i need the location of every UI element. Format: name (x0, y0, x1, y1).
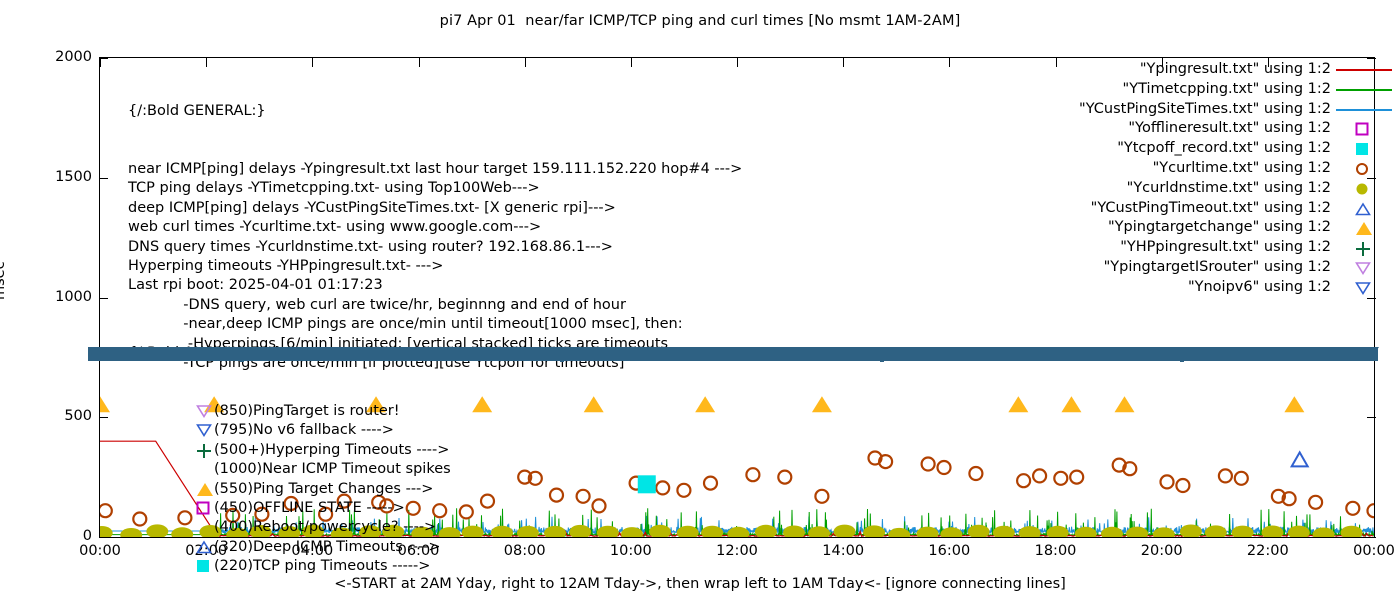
legend-entry: "YHPpingresult.txt" using 1:2 (1001, 238, 1331, 258)
triangle-down-open-icon (196, 423, 212, 438)
legend-key (1334, 159, 1392, 179)
y-tick-label: 1000 (20, 289, 92, 305)
x-tick-label: 00:00 (79, 543, 121, 559)
anomaly-row: (220)TCP ping Timeouts -----> (128, 557, 283, 576)
legend-key (1334, 278, 1392, 298)
legend-label: "Ypingresult.txt" using 1:2 (1140, 60, 1331, 80)
anomaly-row: (850)PingTarget is router! (128, 402, 283, 421)
legend-line-icon (1336, 64, 1392, 76)
anomaly-row: (550)Ping Target Changes ---> (128, 480, 283, 499)
triangle-up-filled-icon (1355, 221, 1373, 236)
legend-label: "YTimetcpping.txt" using 1:2 (1123, 80, 1331, 100)
triangle-up-open-icon (1355, 202, 1371, 216)
anomaly-label: (320)Deep ICMP Timeouts ----> (214, 538, 441, 557)
triangle-up-filled-icon (196, 482, 212, 497)
annotation-line: DNS query times -Ycurldnstime.txt- using… (128, 238, 742, 257)
anomaly-label: (550)Ping Target Changes ---> (214, 480, 433, 499)
anomaly-row: (400)Reboot/powercycle? ----> (128, 518, 283, 537)
legend-key (1334, 199, 1392, 219)
anomaly-row: (320)Deep ICMP Timeouts ----> (128, 538, 283, 557)
y-tick-label: 2000 (20, 49, 92, 65)
triangle-up-open-icon (196, 540, 212, 555)
anomaly-label: (795)No v6 fallback ----> (214, 421, 394, 440)
overlay-band-dot (240, 360, 244, 362)
y-tick-label: 0 (20, 528, 92, 544)
legend-label: "Ytcpoff_record.txt" using 1:2 (1117, 139, 1331, 159)
anomaly-row: (1000)Near ICMP Timeout spikes (128, 460, 283, 479)
triangle-down-open-icon (1355, 281, 1371, 295)
x-tick-label: 00:00 (1353, 543, 1395, 559)
annotation-line: web curl times -Ycurltime.txt- using www… (128, 218, 742, 237)
x-axis-caption: <-START at 2AM Yday, right to 12AM Tday-… (0, 576, 1400, 592)
overlay-band-dot (1180, 360, 1184, 362)
legend-entry: "Ytcpoff_record.txt" using 1:2 (1001, 139, 1331, 159)
square-filled-icon (196, 559, 212, 574)
legend-entry: "YCustPingSiteTimes.txt" using 1:2 (1001, 100, 1331, 120)
x-tick-mark (1374, 529, 1375, 538)
anomaly-label: (500+)Hyperping Timeouts ----> (214, 441, 449, 460)
anomaly-row: (450)OFFLINE STATE -----> (128, 499, 283, 518)
circle-filled-icon (1355, 182, 1369, 196)
legend-entry: "Ynoipv6" using 1:2 (1001, 278, 1331, 298)
x-tick-label: 18:00 (1035, 543, 1077, 559)
legend-label: "Ypingtargetchange" using 1:2 (1108, 218, 1331, 238)
triangle-down-open-icon (1355, 261, 1371, 275)
legend-key (1334, 179, 1392, 199)
anomaly-label: (1000)Near ICMP Timeout spikes (214, 460, 451, 479)
square-filled-icon (1355, 142, 1369, 156)
x-tick-label: 20:00 (1141, 543, 1183, 559)
annotation-anomaly-rows: (850)PingTarget is router!(795)No v6 fal… (128, 402, 283, 577)
legend-key (1334, 60, 1392, 80)
legend-key (1334, 238, 1392, 258)
legend-key (1334, 80, 1392, 100)
legend-key (1334, 100, 1392, 120)
circle-open-icon (1355, 162, 1369, 176)
legend: "Ypingresult.txt" using 1:2"YTimetcpping… (1001, 60, 1331, 298)
anomaly-row: (795)No v6 fallback ----> (128, 421, 283, 440)
y-tick-label: 1500 (20, 169, 92, 185)
overlay-band (88, 347, 1378, 361)
annotation-line: deep ICMP[ping] delays -YCustPingSiteTim… (128, 199, 742, 218)
legend-line-icon (1336, 104, 1392, 116)
legend-entry: "Ycurldnstime.txt" using 1:2 (1001, 179, 1331, 199)
annotation-line: TCP ping delays -YTimetcpping.txt- using… (128, 179, 742, 198)
triangle-down-open-icon (196, 404, 212, 419)
legend-key (1334, 258, 1392, 278)
legend-label: "YHPpingresult.txt" using 1:2 (1120, 238, 1331, 258)
y-tick-label: 500 (20, 408, 92, 424)
square-open-icon (1355, 122, 1369, 136)
legend-label: "YpingtargetISrouter" using 1:2 (1104, 258, 1331, 278)
legend-label: "YCustPingSiteTimes.txt" using 1:2 (1079, 100, 1331, 120)
legend-label: "Ycurltime.txt" using 1:2 (1153, 159, 1331, 179)
legend-entry: "YpingtargetISrouter" using 1:2 (1001, 258, 1331, 278)
plus-icon (1355, 241, 1371, 257)
anomaly-label: (850)PingTarget is router! (214, 402, 400, 421)
legend-label: "Ynoipv6" using 1:2 (1188, 278, 1331, 298)
x-tick-label: 16:00 (928, 543, 970, 559)
plus-icon (196, 443, 212, 458)
legend-entry: "Ycurltime.txt" using 1:2 (1001, 159, 1331, 179)
anomaly-label: (220)TCP ping Timeouts -----> (214, 557, 430, 576)
x-tick-label: 14:00 (822, 543, 864, 559)
legend-key (1334, 119, 1392, 139)
annotation-line: near ICMP[ping] delays -Ypingresult.txt … (128, 160, 742, 179)
annotation-general-heading: {/:Bold GENERAL:} (128, 102, 742, 121)
x-tick-label: 08:00 (504, 543, 546, 559)
anomaly-label: (450)OFFLINE STATE -----> (214, 499, 405, 518)
legend-line-icon (1336, 84, 1392, 96)
legend-label: "Ycurldnstime.txt" using 1:2 (1127, 179, 1331, 199)
annotation-line: Last rpi boot: 2025-04-01 01:17:23 (128, 276, 742, 295)
legend-entry: "Yofflineresult.txt" using 1:2 (1001, 119, 1331, 139)
square-open-icon (196, 501, 212, 516)
annotation-line: Hyperping timeouts -YHPpingresult.txt- -… (128, 257, 742, 276)
legend-label: "Yofflineresult.txt" using 1:2 (1128, 119, 1331, 139)
y-axis-label: msec (0, 261, 8, 300)
legend-key (1334, 139, 1392, 159)
overlay-band-dot (560, 360, 564, 362)
legend-entry: "YCustPingTimeout.txt" using 1:2 (1001, 199, 1331, 219)
x-tick-label: 12:00 (716, 543, 758, 559)
x-tick-label: 10:00 (610, 543, 652, 559)
legend-label: "YCustPingTimeout.txt" using 1:2 (1091, 199, 1331, 219)
anomaly-label: (400)Reboot/powercycle? ----> (214, 518, 436, 537)
legend-entry: "Ypingtargetchange" using 1:2 (1001, 218, 1331, 238)
chart-title: pi7 Apr 01 near/far ICMP/TCP ping and cu… (0, 13, 1400, 29)
overlay-band-dot (880, 360, 884, 362)
chart-page: pi7 Apr 01 near/far ICMP/TCP ping and cu… (0, 0, 1400, 600)
anomaly-row: (500+)Hyperping Timeouts ----> (128, 441, 283, 460)
legend-entry: "Ypingresult.txt" using 1:2 (1001, 60, 1331, 80)
x-tick-label: 22:00 (1247, 543, 1289, 559)
legend-entry: "YTimetcpping.txt" using 1:2 (1001, 80, 1331, 100)
legend-key (1334, 218, 1392, 238)
